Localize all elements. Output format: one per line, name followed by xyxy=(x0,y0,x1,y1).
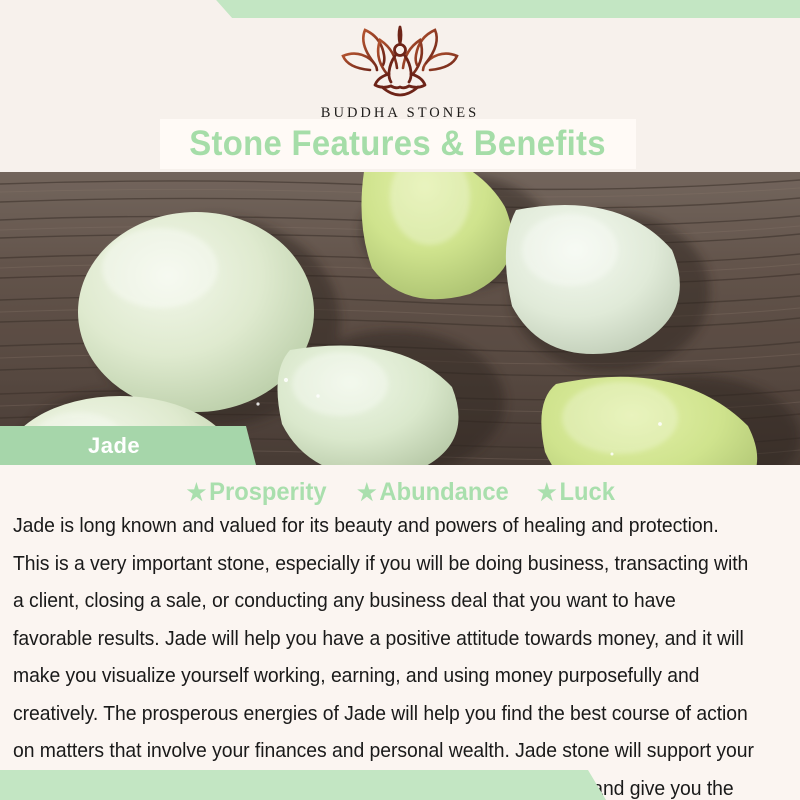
benefit-item-2: ★Luck xyxy=(537,478,615,507)
stone-name-band: Jade xyxy=(0,426,256,465)
stone-photo xyxy=(0,172,800,465)
benefit-label-0: Prosperity xyxy=(209,478,326,506)
content-area: ★Prosperity ★Abundance ★Luck Jade is lon… xyxy=(0,465,800,800)
benefit-item-0: ★Prosperity xyxy=(187,478,327,507)
benefit-item-1: ★Abundance xyxy=(357,478,509,507)
page-title: Stone Features & Benefits xyxy=(190,124,607,164)
benefit-label-1: Abundance xyxy=(379,478,508,506)
star-icon: ★ xyxy=(187,479,207,505)
star-icon: ★ xyxy=(537,479,557,505)
benefit-label-2: Luck xyxy=(559,478,614,506)
lotus-meditation-icon xyxy=(339,22,461,100)
star-icon: ★ xyxy=(357,479,377,505)
brand-logo: BUDDHA STONES xyxy=(0,22,800,122)
benefits-row: ★Prosperity ★Abundance ★Luck xyxy=(0,478,800,507)
stone-name-label: Jade xyxy=(88,433,140,459)
title-banner: Stone Features & Benefits xyxy=(160,119,636,169)
poster-canvas: Jade xyxy=(0,0,800,800)
stone-photo-graphic xyxy=(0,172,800,465)
description-paragraph: Jade is long known and valued for its be… xyxy=(13,508,754,800)
